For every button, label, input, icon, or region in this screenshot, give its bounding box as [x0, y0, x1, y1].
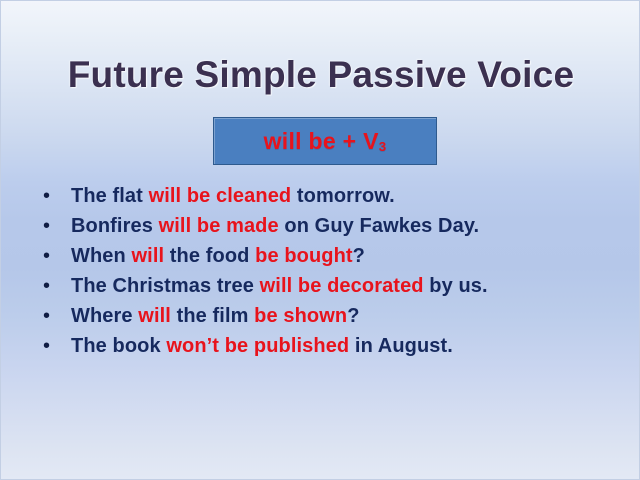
highlighted-phrase: be shown: [254, 305, 347, 327]
list-item-text: The Christmas tree will be decorated by …: [71, 271, 617, 301]
highlighted-phrase: will be made: [159, 215, 279, 237]
formula-text: will be + V3: [264, 128, 387, 155]
plain-phrase: The flat: [71, 185, 149, 207]
plain-phrase: the food: [164, 245, 255, 267]
list-item: •Where will the film be shown?: [37, 301, 617, 331]
highlighted-phrase: will: [138, 305, 171, 327]
plain-phrase: The Christmas tree: [71, 275, 260, 297]
list-item: •The flat will be cleaned tomorrow.: [37, 181, 617, 211]
plain-phrase: ?: [353, 245, 365, 267]
list-item: •The book won’t be published in August.: [37, 331, 617, 361]
bullet-dot-icon: •: [37, 271, 71, 301]
plain-phrase: Where: [71, 305, 138, 327]
highlighted-phrase: be bought: [255, 245, 353, 267]
list-item-text: The book won’t be published in August.: [71, 331, 617, 361]
list-item: •When will the food be bought?: [37, 241, 617, 271]
bullet-dot-icon: •: [37, 241, 71, 271]
plain-phrase: in August.: [349, 335, 453, 357]
highlighted-phrase: won’t be published: [166, 335, 349, 357]
list-item-text: When will the food be bought?: [71, 241, 617, 271]
list-item: •Bonfires will be made on Guy Fawkes Day…: [37, 211, 617, 241]
bullet-dot-icon: •: [37, 331, 71, 361]
plain-phrase: the film: [171, 305, 254, 327]
list-item: •The Christmas tree will be decorated by…: [37, 271, 617, 301]
bullet-dot-icon: •: [37, 211, 71, 241]
plain-phrase: tomorrow.: [291, 185, 395, 207]
slide-canvas: Future Simple Passive Voice will be + V3…: [0, 0, 640, 480]
plain-phrase: on Guy Fawkes Day.: [279, 215, 479, 237]
formula-subscript: 3: [379, 139, 387, 154]
list-item-text: Bonfires will be made on Guy Fawkes Day.: [71, 211, 617, 241]
page-title: Future Simple Passive Voice: [1, 53, 640, 97]
plain-phrase: by us.: [424, 275, 488, 297]
bullet-dot-icon: •: [37, 181, 71, 211]
plain-phrase: Bonfires: [71, 215, 159, 237]
bullet-dot-icon: •: [37, 301, 71, 331]
list-item-text: The flat will be cleaned tomorrow.: [71, 181, 617, 211]
list-item-text: Where will the film be shown?: [71, 301, 617, 331]
highlighted-phrase: will be cleaned: [149, 185, 292, 207]
plain-phrase: The book: [71, 335, 166, 357]
highlighted-phrase: will be decorated: [260, 275, 424, 297]
highlighted-phrase: will: [132, 245, 165, 267]
plain-phrase: ?: [347, 305, 359, 327]
plain-phrase: When: [71, 245, 132, 267]
bullet-list: •The flat will be cleaned tomorrow.•Bonf…: [37, 181, 617, 361]
formula-callout-box: will be + V3: [213, 117, 437, 165]
formula-prefix: will be + V: [264, 128, 379, 154]
